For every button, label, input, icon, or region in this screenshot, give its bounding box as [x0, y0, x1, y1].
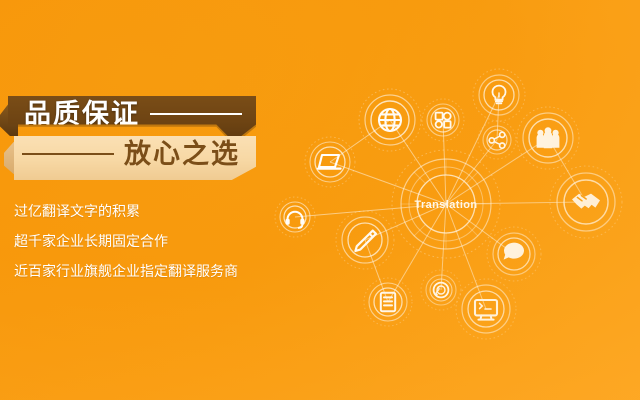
network-svg: Translation — [286, 62, 640, 328]
node-monitor[interactable] — [456, 279, 516, 339]
headline-pane: 品质保证 放心之选 过亿翻译文字的积累 超千家企业长期固定合作 近百家行业旗舰企… — [0, 96, 280, 278]
node-people[interactable] — [517, 107, 579, 169]
promo-banner: Translation — [0, 0, 640, 400]
headline-line1-ribbon: 品质保证 — [8, 96, 256, 142]
node-globe[interactable] — [359, 89, 421, 151]
node-document[interactable] — [364, 278, 412, 326]
benefit-item-2: 超千家企业长期固定合作 — [14, 234, 280, 248]
network-graphic: Translation — [286, 62, 640, 328]
headline-line1: 品质保证 — [24, 101, 140, 128]
node-chart[interactable] — [422, 99, 464, 141]
headline-ribbons: 品质保证 放心之选 — [0, 96, 262, 186]
benefit-list: 过亿翻译文字的积累 超千家企业长期固定合作 近百家行业旗舰企业指定翻译服务商 — [0, 204, 280, 278]
hub-node: Translation — [392, 150, 500, 258]
headline-line1-rule — [150, 113, 242, 115]
headline-line2: 放心之选 — [124, 141, 240, 168]
benefit-item-3: 近百家行业旗舰企业指定翻译服务商 — [14, 264, 280, 278]
node-chat[interactable] — [487, 227, 541, 281]
hub-label: Translation — [414, 199, 477, 211]
benefit-item-1: 过亿翻译文字的积累 — [14, 204, 280, 218]
headline-line2-ribbon: 放心之选 — [14, 136, 256, 180]
headline-line2-rule — [22, 153, 114, 155]
node-bulb[interactable] — [473, 69, 525, 121]
